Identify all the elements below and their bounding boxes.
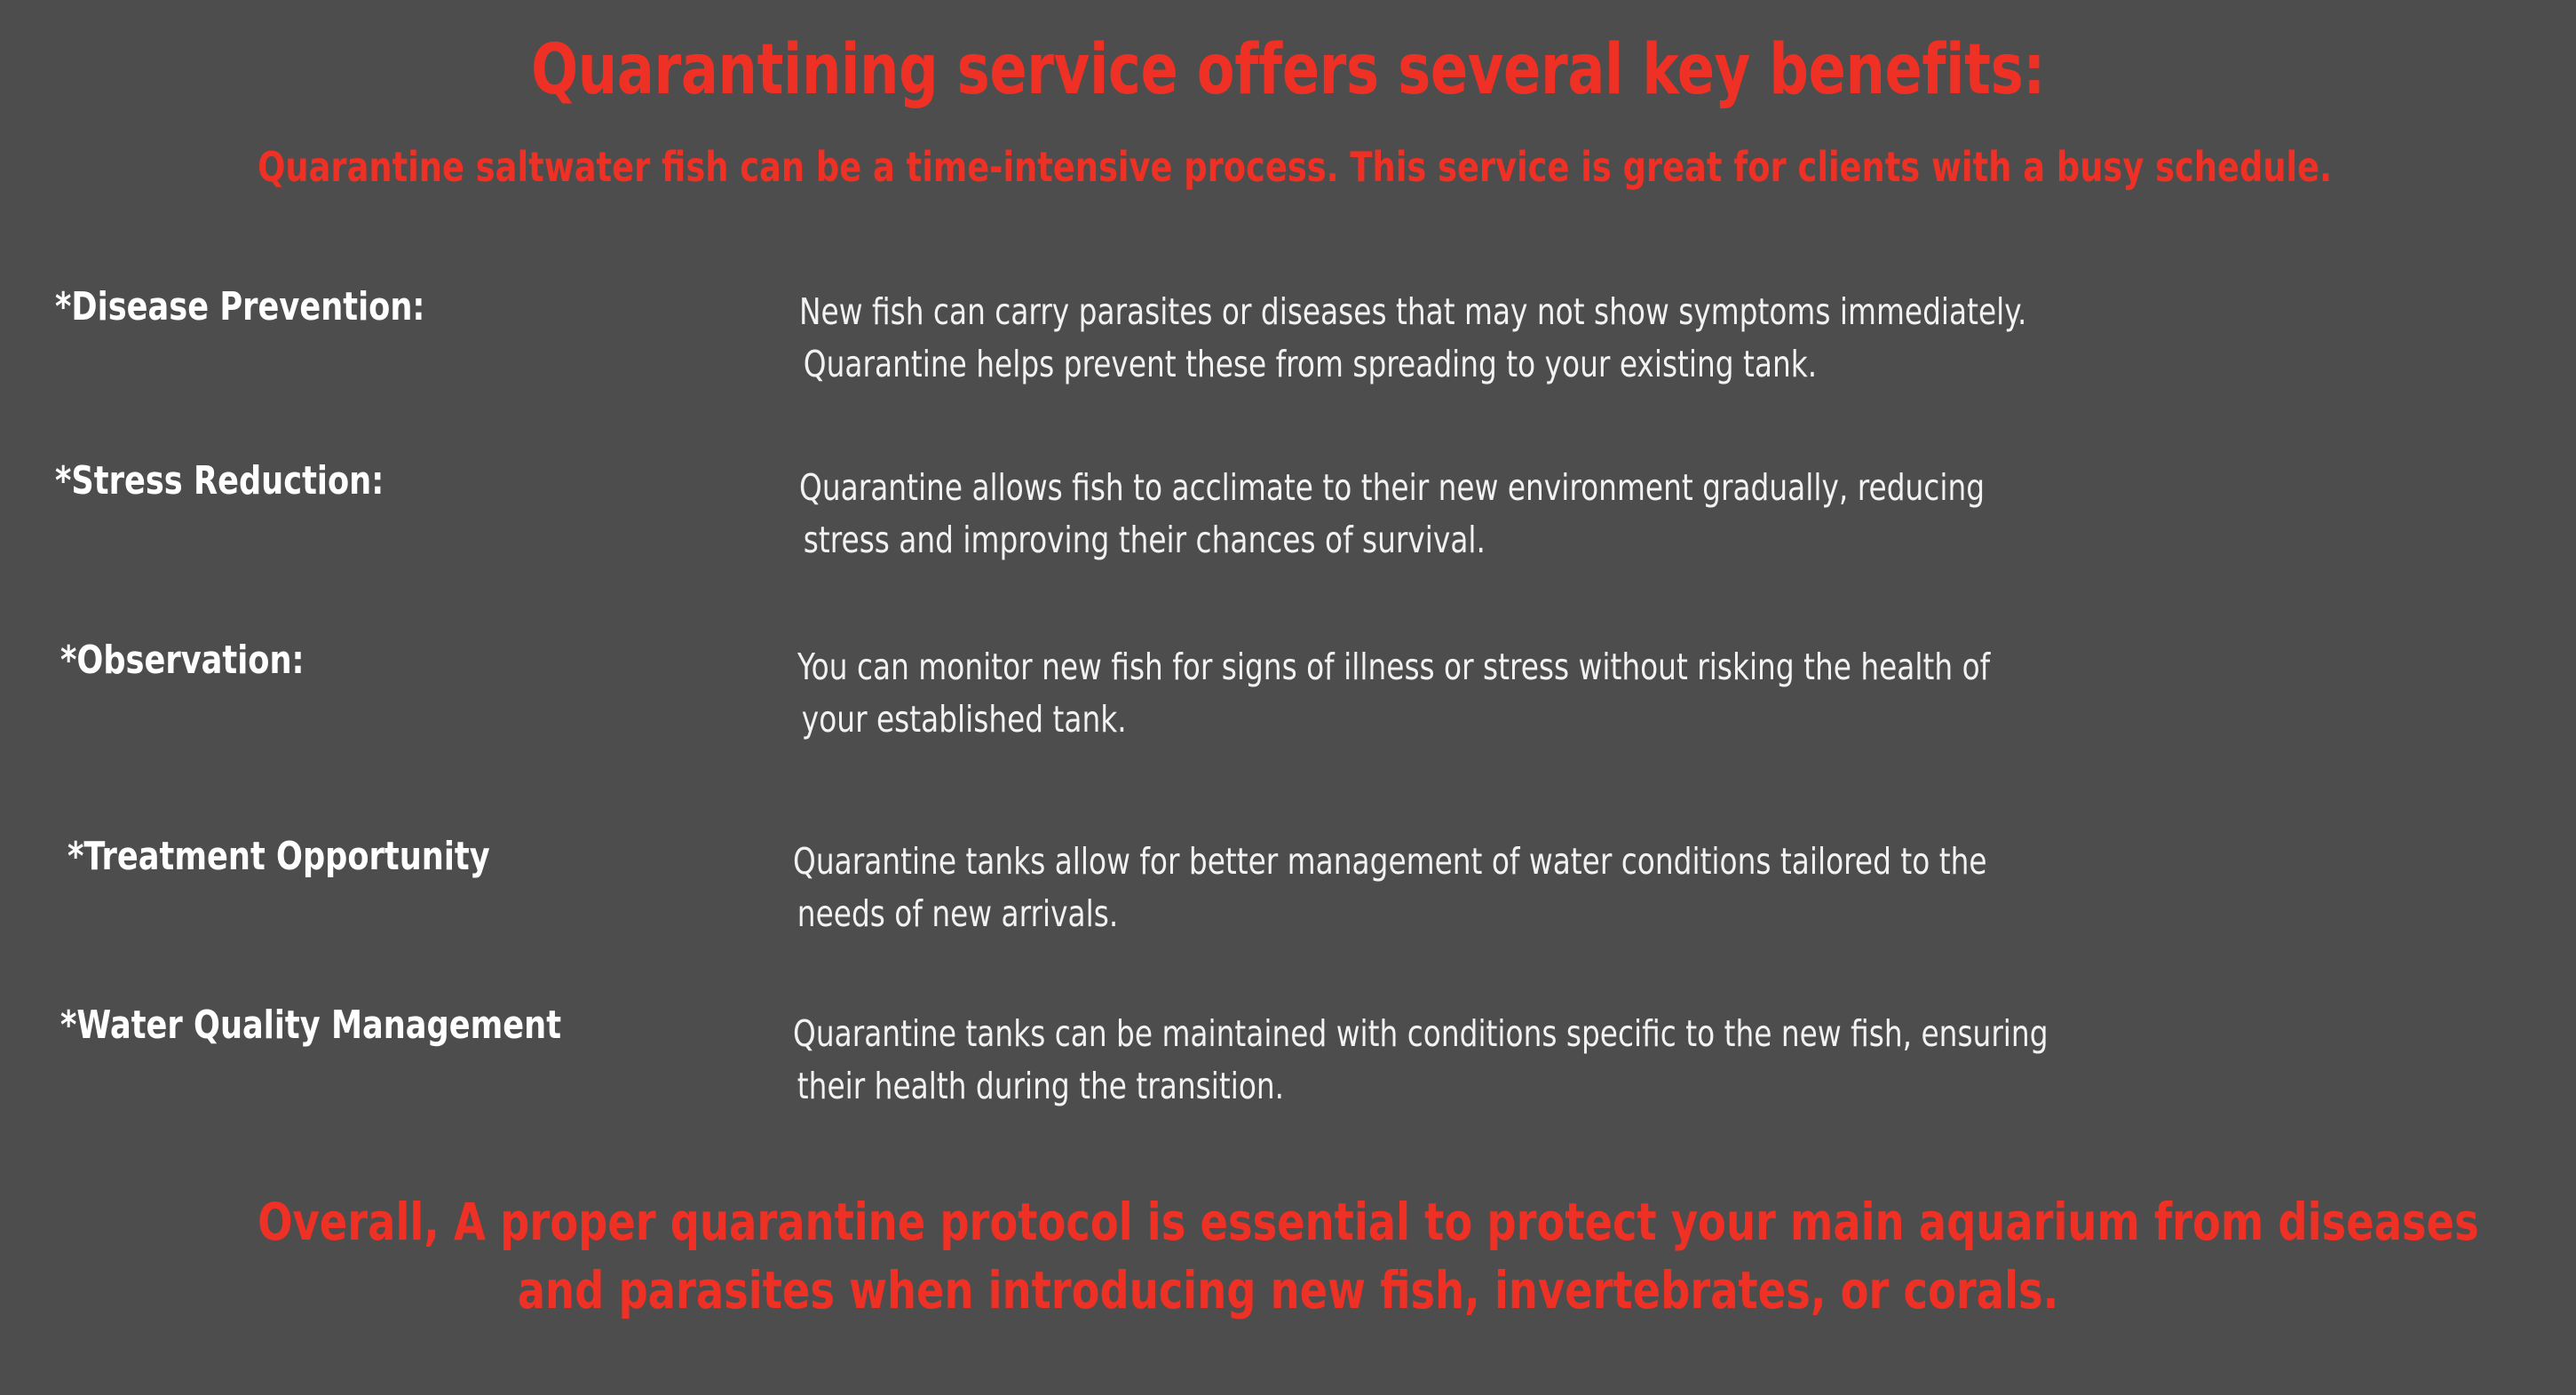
benefit-row: *Disease Prevention: New fish can carry … bbox=[0, 286, 2576, 453]
benefits-list: *Disease Prevention: New fish can carry … bbox=[0, 286, 2576, 1164]
benefit-label-stress-reduction: *Stress Reduction: bbox=[55, 460, 384, 503]
footer-line: Overall, A proper quarantine protocol is… bbox=[258, 1188, 2318, 1256]
header-block: Quarantining service offers several key … bbox=[0, 36, 2576, 188]
benefit-row: *Treatment Opportunity Quarantine tanks … bbox=[0, 821, 2576, 995]
benefit-description-line: Quarantine helps prevent these from spre… bbox=[799, 338, 2192, 391]
benefit-row: *Stress Reduction: Quarantine allows fis… bbox=[0, 453, 2576, 630]
footer-line: and parasites when introducing new fish,… bbox=[258, 1256, 2318, 1325]
benefit-description: New fish can carry parasites or diseases… bbox=[799, 286, 2192, 392]
benefit-description-line: You can monitor new fish for signs of il… bbox=[797, 641, 2190, 694]
benefit-description-line: Quarantine tanks can be maintained with … bbox=[793, 1008, 2185, 1060]
benefit-label-water-quality-management: *Water Quality Management bbox=[60, 1004, 561, 1047]
benefit-label-observation: *Observation: bbox=[60, 639, 305, 682]
benefit-description: You can monitor new fish for signs of il… bbox=[797, 641, 2190, 747]
benefit-description-line: Quarantine allows fish to acclimate to t… bbox=[799, 462, 2192, 514]
page-subtitle: Quarantine saltwater fish can be a time-… bbox=[258, 146, 2318, 188]
benefit-description-line: your established tank. bbox=[797, 694, 2190, 746]
benefit-description: Quarantine tanks can be maintained with … bbox=[793, 1008, 2185, 1114]
benefit-description: Quarantine allows fish to acclimate to t… bbox=[799, 462, 2192, 567]
benefit-description-line: stress and improving their chances of su… bbox=[799, 514, 2192, 567]
poster-root: Quarantining service offers several key … bbox=[0, 0, 2576, 1395]
benefit-description-line: their health during the transition. bbox=[793, 1060, 2185, 1113]
benefit-description: Quarantine tanks allow for better manage… bbox=[793, 836, 2185, 941]
benefit-label-treatment-opportunity: *Treatment Opportunity bbox=[67, 836, 490, 878]
benefit-row: *Water Quality Management Quarantine tan… bbox=[0, 995, 2576, 1164]
page-title: Quarantining service offers several key … bbox=[258, 36, 2318, 107]
benefit-description-line: New fish can carry parasites or diseases… bbox=[799, 286, 2192, 338]
benefit-label-disease-prevention: *Disease Prevention: bbox=[55, 286, 424, 329]
footer-block: Overall, A proper quarantine protocol is… bbox=[0, 1188, 2576, 1324]
benefit-row: *Observation: You can monitor new fish f… bbox=[0, 630, 2576, 821]
benefit-description-line: Quarantine tanks allow for better manage… bbox=[793, 836, 2185, 888]
benefit-description-line: needs of new arrivals. bbox=[793, 888, 2185, 940]
